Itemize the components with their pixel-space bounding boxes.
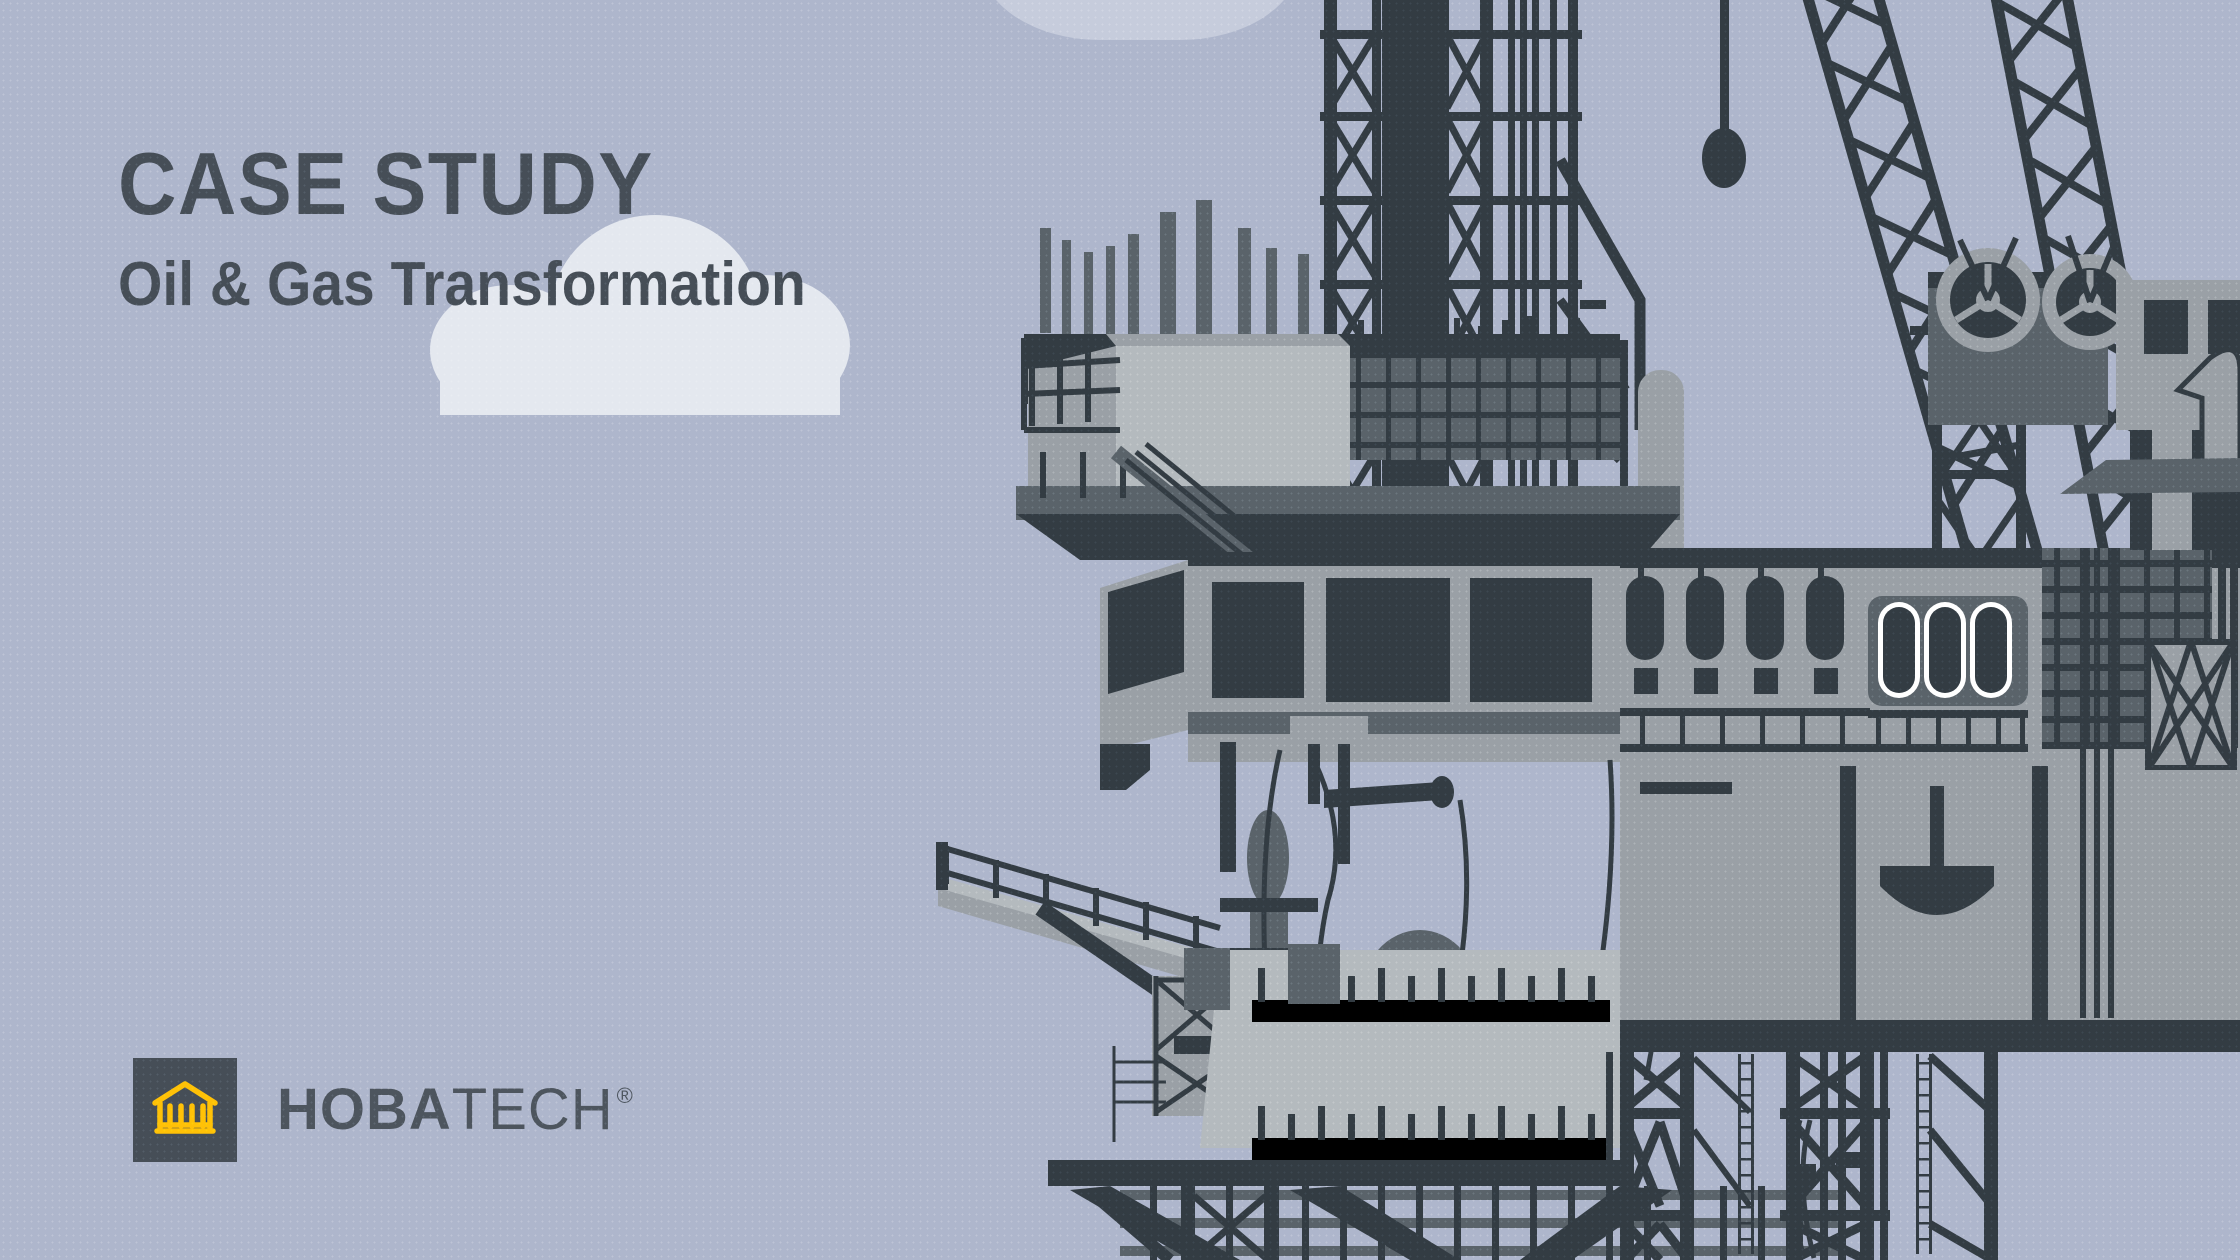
brand-logo[interactable]: HOBA TECH ®	[133, 1058, 633, 1162]
upper-platform-deck	[1016, 200, 1680, 566]
page-subtitle: Oil & Gas Transformation	[118, 254, 806, 316]
cloud-base	[440, 345, 840, 415]
page-title: CASE STUDY	[118, 140, 806, 228]
control-room	[1100, 552, 1620, 762]
lattice-panel	[2146, 640, 2236, 770]
oil-rig-illustration	[920, 0, 2240, 1260]
slide-canvas: CASE STUDY Oil & Gas Transformation HOBA…	[0, 0, 2240, 1260]
logo-mark-tile	[133, 1058, 237, 1162]
logo-name-light: TECH	[452, 1081, 614, 1139]
bank-building-icon	[151, 1079, 219, 1141]
registered-trademark-mark: ®	[617, 1085, 633, 1107]
crane-hook-cable	[1702, 0, 1746, 188]
logo-name-bold: HOBA	[277, 1081, 452, 1139]
logo-wordmark: HOBA TECH ®	[277, 1081, 633, 1139]
main-platform	[1610, 420, 2240, 1052]
lattice-support-legs	[1606, 1052, 1998, 1260]
headline-block: CASE STUDY Oil & Gas Transformation	[118, 140, 866, 316]
